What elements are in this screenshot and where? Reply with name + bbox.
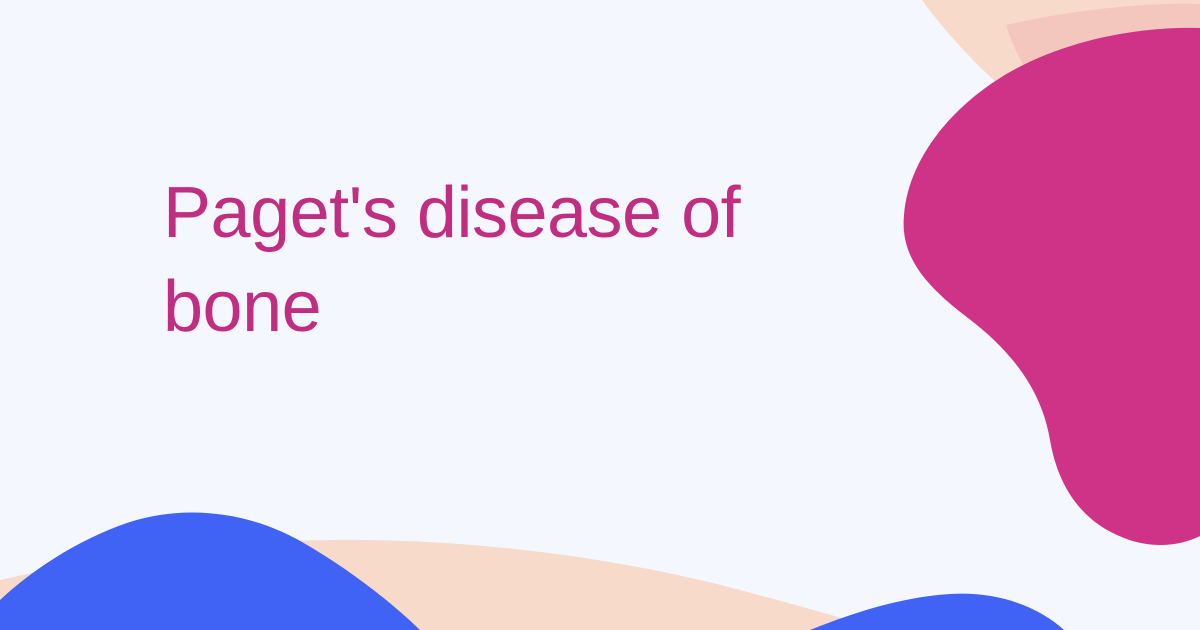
page-title: Paget's disease of bone bbox=[163, 166, 863, 354]
magenta-blob-right bbox=[904, 28, 1200, 545]
peach-blob-bottom bbox=[0, 540, 880, 630]
blue-blob-bottom-left bbox=[0, 512, 420, 630]
blue-blob-bottom-right bbox=[810, 594, 1064, 630]
title-block: Paget's disease of bone bbox=[163, 166, 863, 354]
poster-canvas: Paget's disease of bone bbox=[0, 0, 1200, 630]
peach-blob-top-right-secondary bbox=[1006, 4, 1200, 224]
peach-blob-top-right bbox=[922, 0, 1200, 200]
